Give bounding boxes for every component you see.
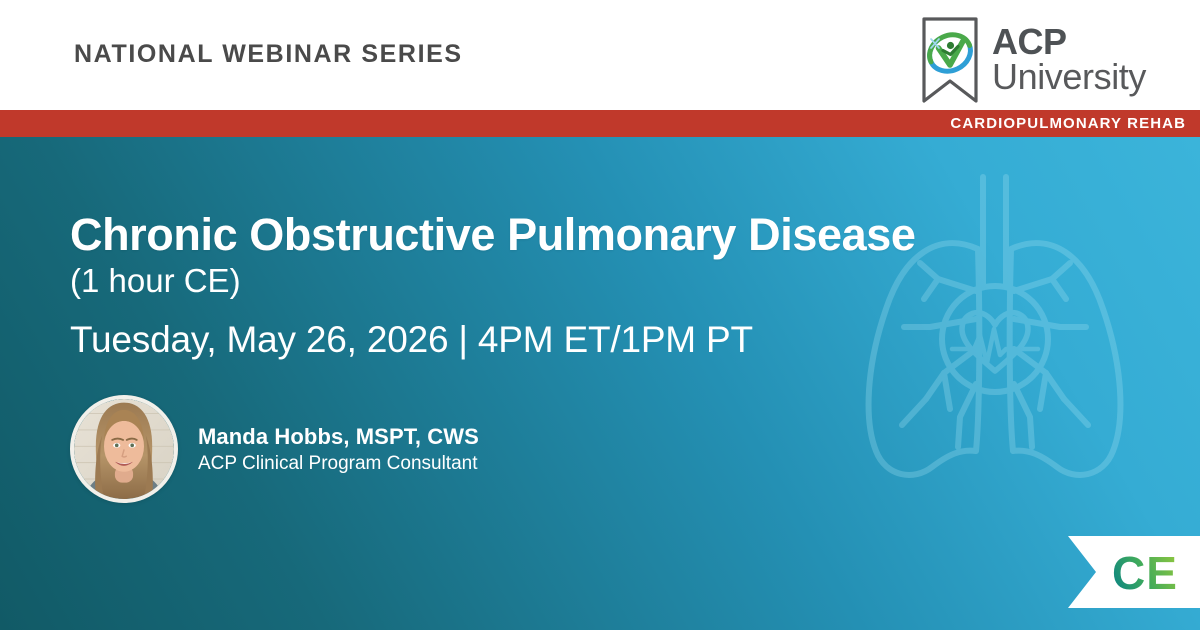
logo-line-acp: ACP	[992, 25, 1146, 60]
logo-line-university: University	[992, 60, 1146, 95]
presenter-role: ACP Clinical Program Consultant	[198, 453, 479, 475]
page-kicker: NATIONAL WEBINAR SERIES	[74, 40, 463, 69]
event-datetime: Tuesday, May 26, 2026 | 4PM ET/1PM PT	[70, 319, 753, 361]
presenter-details: Manda Hobbs, MSPT, CWS ACP Clinical Prog…	[198, 424, 479, 475]
header-bar: NATIONAL WEBINAR SERIES	[0, 0, 1200, 110]
presenter-headshot	[70, 395, 178, 503]
ce-credit-badge: CE	[1068, 536, 1200, 608]
category-band-label: CARDIOPULMONARY REHAB	[950, 115, 1186, 132]
main-panel: Chronic Obstructive Pulmonary Disease (1…	[0, 137, 1200, 630]
presenter-name: Manda Hobbs, MSPT, CWS	[198, 424, 479, 450]
category-band: CARDIOPULMONARY REHAB	[0, 110, 1200, 137]
page-title: Chronic Obstructive Pulmonary Disease	[70, 209, 915, 261]
logo-wordmark: ACP University	[992, 25, 1146, 95]
presenter-block: Manda Hobbs, MSPT, CWS ACP Clinical Prog…	[70, 395, 479, 503]
svg-text:CE: CE	[1112, 547, 1178, 599]
acp-swoosh-bookmark-logo-icon	[919, 16, 981, 104]
acp-university-logo: ACP University	[919, 16, 1146, 104]
page-subtitle: (1 hour CE)	[70, 262, 241, 300]
webinar-promo-poster: NATIONAL WEBINAR SERIES	[0, 0, 1200, 630]
